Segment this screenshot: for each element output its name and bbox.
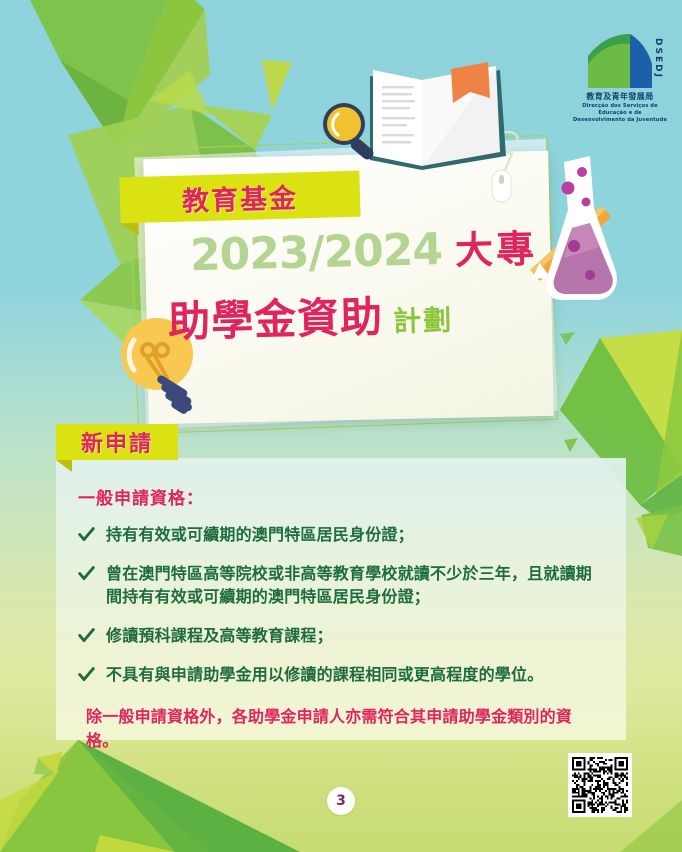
fund-label: 教育基金 <box>181 176 298 218</box>
education-level: 大專 <box>454 218 537 275</box>
science-illustration <box>520 150 650 350</box>
scheme-main-title: 助學金資助 <box>167 283 383 349</box>
check-icon <box>78 666 95 683</box>
check-icon <box>78 565 95 582</box>
scheme-sub-title: 計劃 <box>393 299 454 340</box>
list-item: 曾在澳門特區高等院校或非高等教育學校就讀不少於三年，且就讀期間持有有效或可續期的… <box>78 562 604 609</box>
list-item-text: 曾在澳門特區高等院校或非高等教育學校就讀不少於三年，且就讀期間持有有效或可續期的… <box>106 562 604 609</box>
poster-page: 教育基金 2023/2024 大專 助學金資助 計劃 新申請 一般申請資格： 持… <box>0 0 682 852</box>
logo-caption: 教育及青年發展局 Direcção dos Serviços de Educaç… <box>572 92 668 124</box>
page-number: 3 <box>336 793 346 809</box>
list-item: 修讀預科課程及高等教育課程； <box>78 624 604 648</box>
magnifying-glass-icon <box>323 103 376 162</box>
page-number-badge: 3 <box>327 787 355 815</box>
check-icon <box>78 526 95 543</box>
logo-acronym: DSEDJ <box>653 38 663 79</box>
eligibility-panel: 一般申請資格： 持有有效或可續期的澳門特區居民身份證； 曾在澳門特區高等院校或非… <box>56 458 626 740</box>
list-item-text: 持有有效或可續期的澳門特區居民身份證； <box>106 523 414 547</box>
eligibility-heading: 一般申請資格： <box>78 484 604 509</box>
title-scheme-row: 助學金資助 計劃 <box>167 282 453 350</box>
eligibility-note: 除一般申請資格外，各助學金申請人亦需符合其申請助學金類別的資格。 <box>86 705 604 753</box>
flask-icon <box>546 156 617 300</box>
list-item: 不具有與申請助學金用以修讀的課程相同或更高程度的學位。 <box>78 663 604 687</box>
list-item-text: 修讀預科課程及高等教育課程； <box>106 624 333 648</box>
title-year-row: 2023/2024 大專 <box>189 218 537 281</box>
dsedj-logo: DSEDJ 教育及青年發展局 Direcção dos Serviços de … <box>572 34 668 116</box>
logo-portuguese-name: Direcção dos Serviços de Educação e de D… <box>573 103 667 123</box>
list-item-text: 不具有與申請助學金用以修讀的課程相同或更高程度的學位。 <box>106 663 543 687</box>
fund-ribbon: 教育基金 <box>119 171 360 224</box>
qr-code-icon[interactable] <box>568 753 632 817</box>
list-item: 持有有效或可續期的澳門特區居民身份證； <box>78 523 604 547</box>
section-tab-new-application: 新申請 <box>56 424 178 460</box>
check-icon <box>78 627 95 644</box>
academic-year: 2023/2024 <box>189 224 442 281</box>
logo-chinese-name: 教育及青年發展局 <box>572 92 668 103</box>
section-tab-label: 新申請 <box>81 426 153 458</box>
